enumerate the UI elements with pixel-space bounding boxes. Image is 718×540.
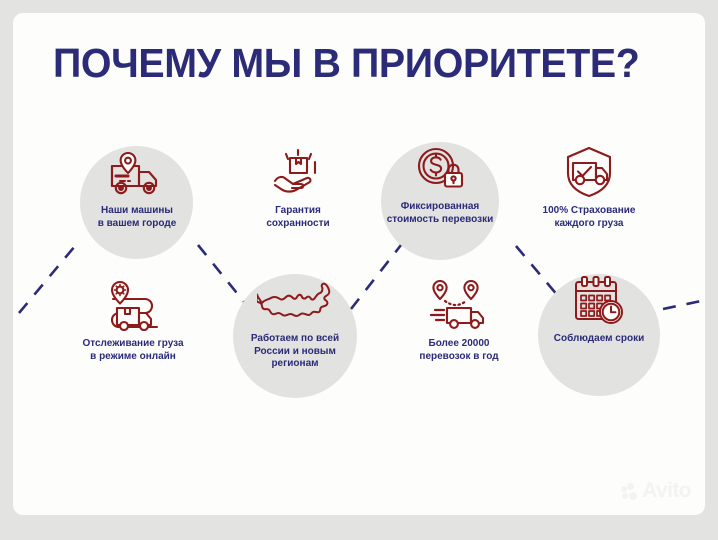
feature-item-shipments-per-year[interactable]: Более 20000 перевозок в год [389,279,529,363]
feature-item-fixed-price[interactable]: Фиксированная стоимость перевозки [370,142,510,226]
feature-item-all-russia[interactable]: Работаем по всей России и новым регионам [225,274,365,371]
feature-label: Гарантия сохранности [266,205,329,230]
truck-with-location-pin-icon [106,146,168,198]
feature-label: Наши машины в вашем городе [98,205,177,230]
feature-item-online-tracking[interactable]: Отслеживание груза в режиме онлайн [63,279,203,363]
connector-segment [663,296,705,309]
feature-label: 100% Страхование каждого груза [543,205,636,230]
feature-label: Работаем по всей России и новым регионам [251,333,339,371]
feature-label: Соблюдаем сроки [554,333,644,346]
calendar-clock-icon [570,274,628,326]
dollar-coin-with-lock-icon [412,142,468,194]
avito-dots-icon [621,483,638,500]
poster-canvas: ПОЧЕМУ МЫ В ПРИОРИТЕТЕ? [0,0,718,540]
page-title: ПОЧЕМУ МЫ В ПРИОРИТЕТЕ? [53,40,639,87]
truck-route-tracking-icon [99,279,167,331]
feature-label: Фиксированная стоимость перевозки [387,201,494,226]
feature-label: Отслеживание груза в режиме онлайн [82,338,183,363]
feature-item-on-time[interactable]: Соблюдаем сроки [529,274,669,346]
feature-item-insurance[interactable]: 100% Страхование каждого груза [519,146,659,230]
connector-lines [13,13,705,515]
avito-wordmark: Avito [642,479,691,503]
poster-card: ПОЧЕМУ МЫ В ПРИОРИТЕТЕ? [13,13,705,515]
hand-holding-box-icon [269,146,327,198]
avito-watermark: Avito [621,479,691,503]
feature-label: Более 20000 перевозок в год [419,338,498,363]
russia-map-icon [257,274,333,326]
feature-item-safety-guarantee[interactable]: Гарантия сохранности [228,146,368,230]
feature-item-our-trucks[interactable]: Наши машины в вашем городе [67,146,207,230]
shield-with-truck-check-icon [560,146,618,198]
moving-truck-two-pins-icon [425,279,493,331]
